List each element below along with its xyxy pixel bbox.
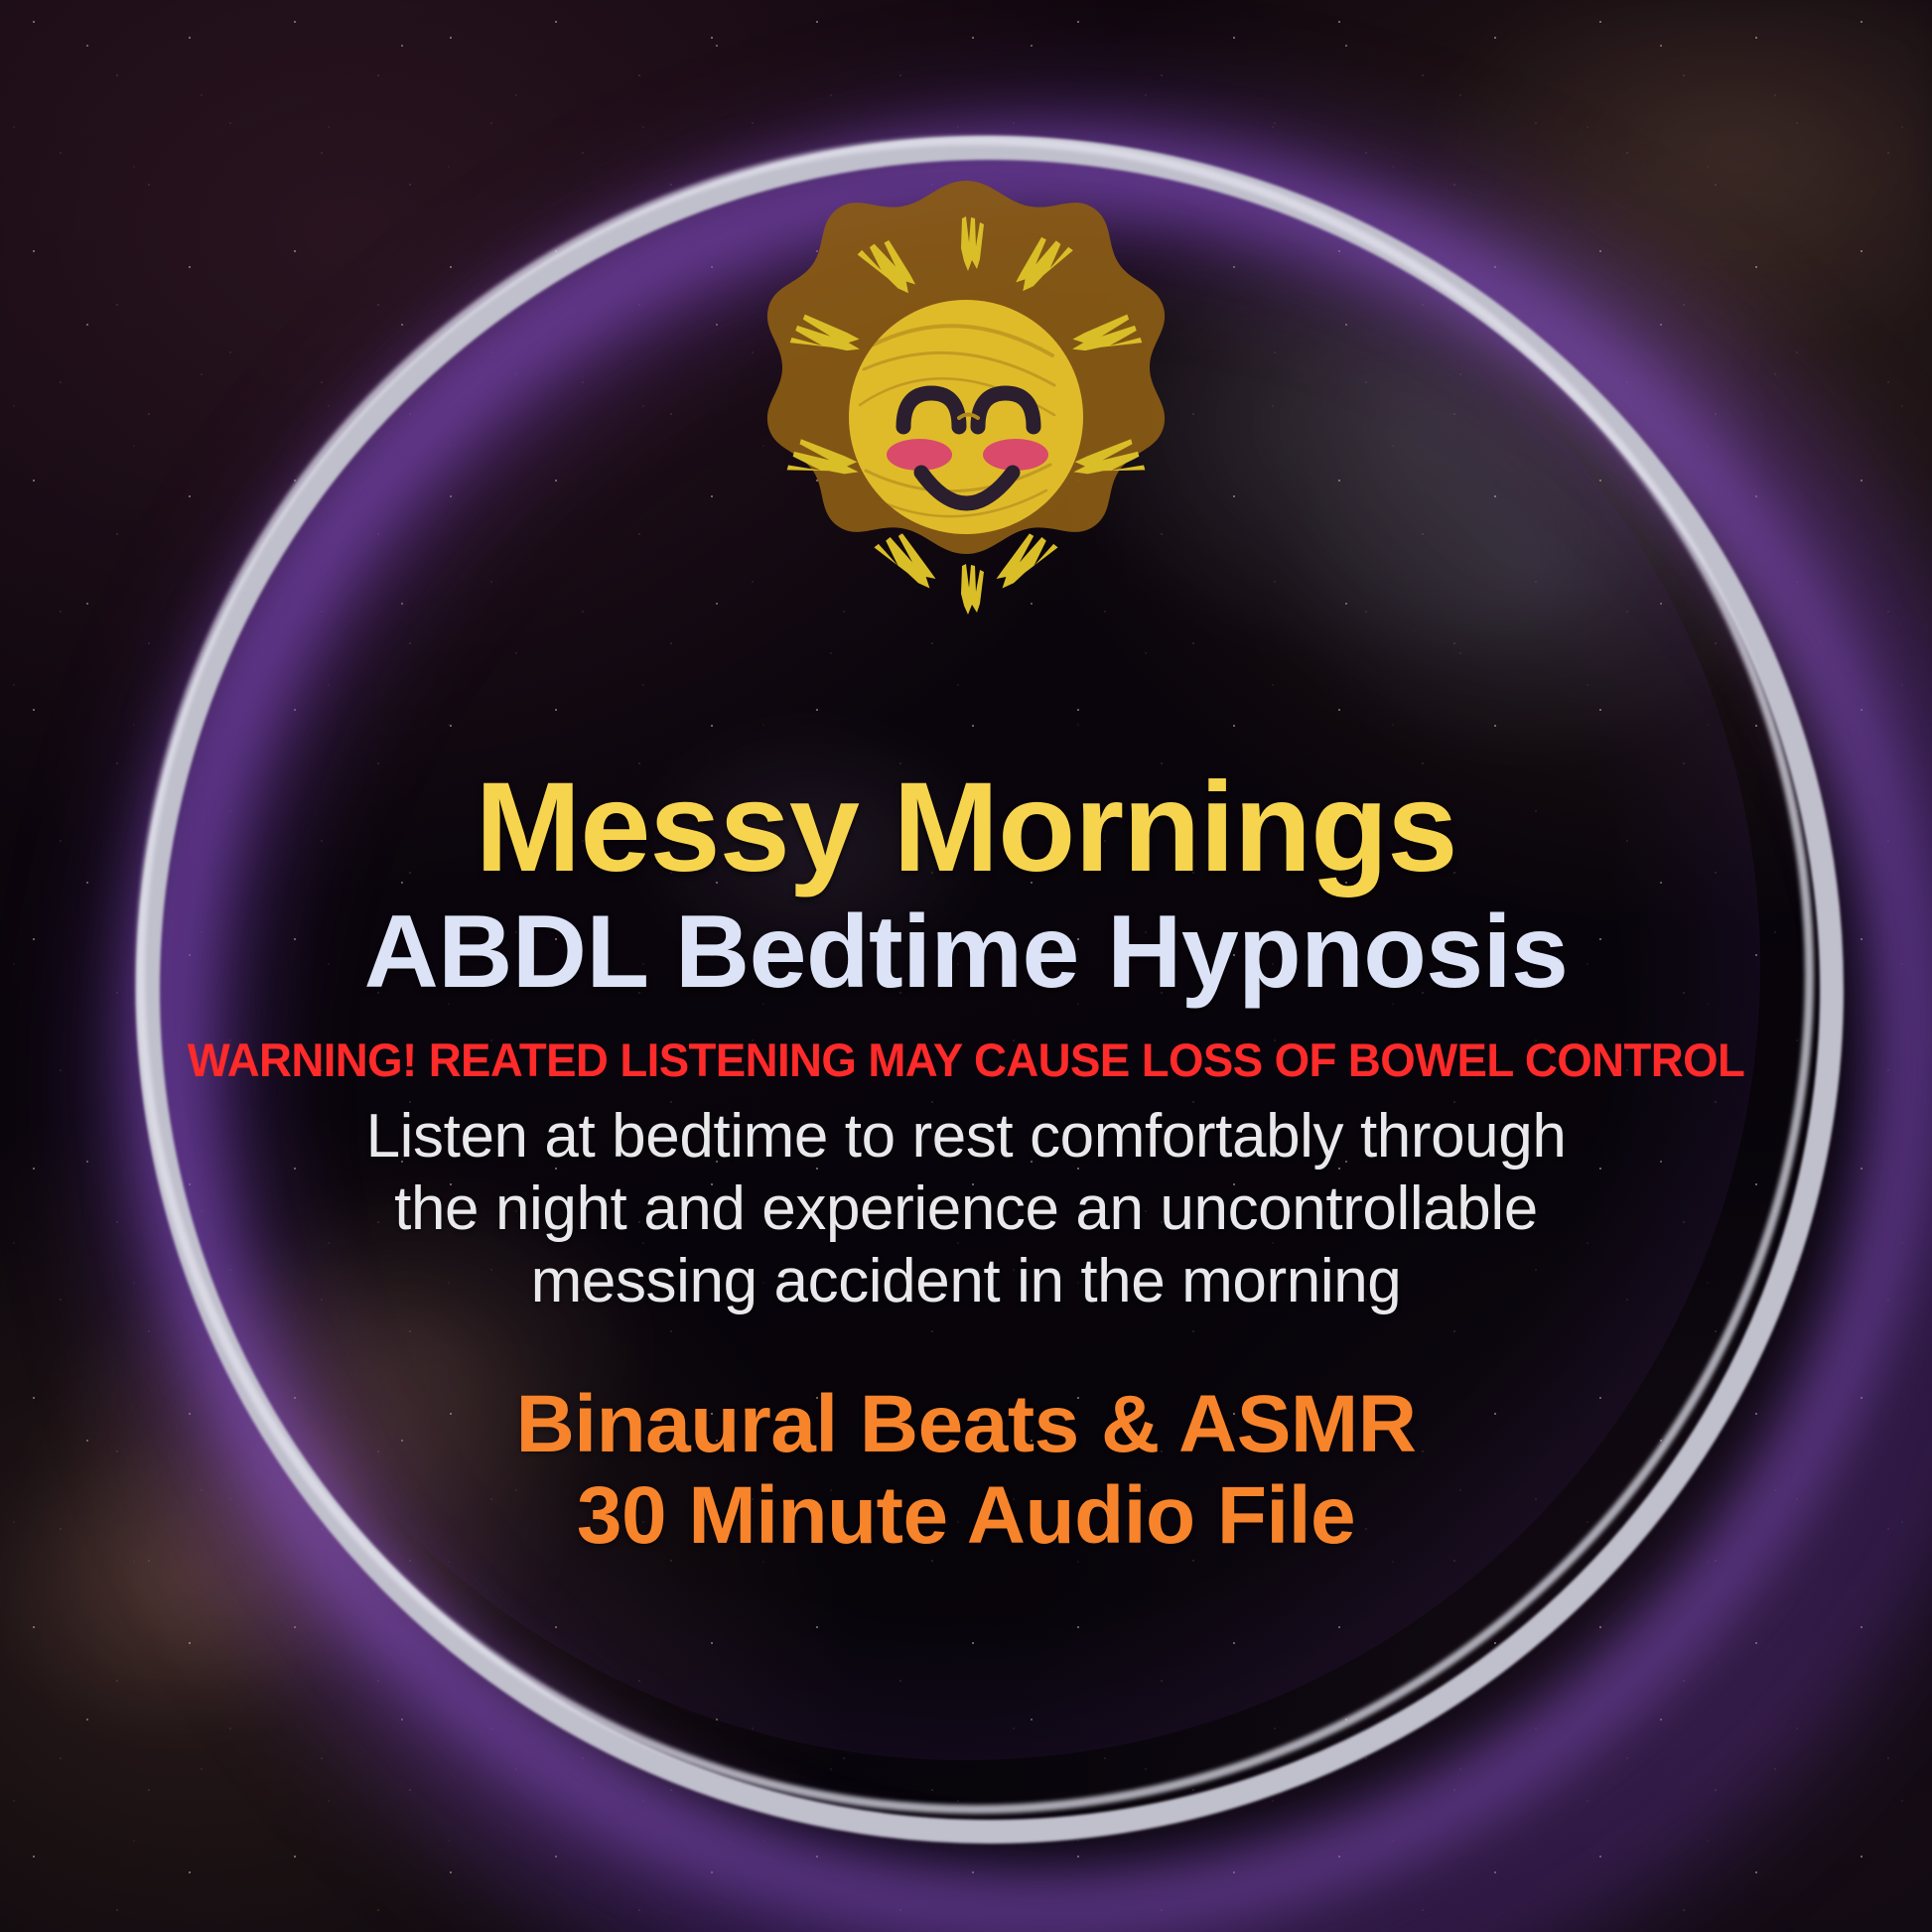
poster-canvas: Messy Mornings ABDL Bedtime Hypnosis WAR… — [0, 0, 1932, 1932]
description-line-2: the night and experience an uncontrollab… — [256, 1173, 1676, 1245]
description-line-3: messing accident in the morning — [256, 1245, 1676, 1317]
cta-line-1: Binaural Beats & ASMR — [0, 1379, 1932, 1470]
sun-face — [849, 300, 1083, 536]
text-block: Messy Mornings ABDL Bedtime Hypnosis WAR… — [0, 764, 1932, 1562]
page-title: Messy Mornings — [0, 764, 1932, 892]
page-subtitle: ABDL Bedtime Hypnosis — [0, 897, 1932, 1007]
cta-line-2: 30 Minute Audio File — [0, 1470, 1932, 1562]
description-line-1: Listen at bedtime to rest comfortably th… — [256, 1100, 1676, 1173]
warning-text: WARNING! REATED LISTENING MAY CAUSE LOSS… — [29, 1035, 1903, 1086]
description-text: Listen at bedtime to rest comfortably th… — [256, 1100, 1676, 1317]
sun-illustration — [733, 157, 1199, 623]
cta-text: Binaural Beats & ASMR 30 Minute Audio Fi… — [0, 1379, 1932, 1562]
